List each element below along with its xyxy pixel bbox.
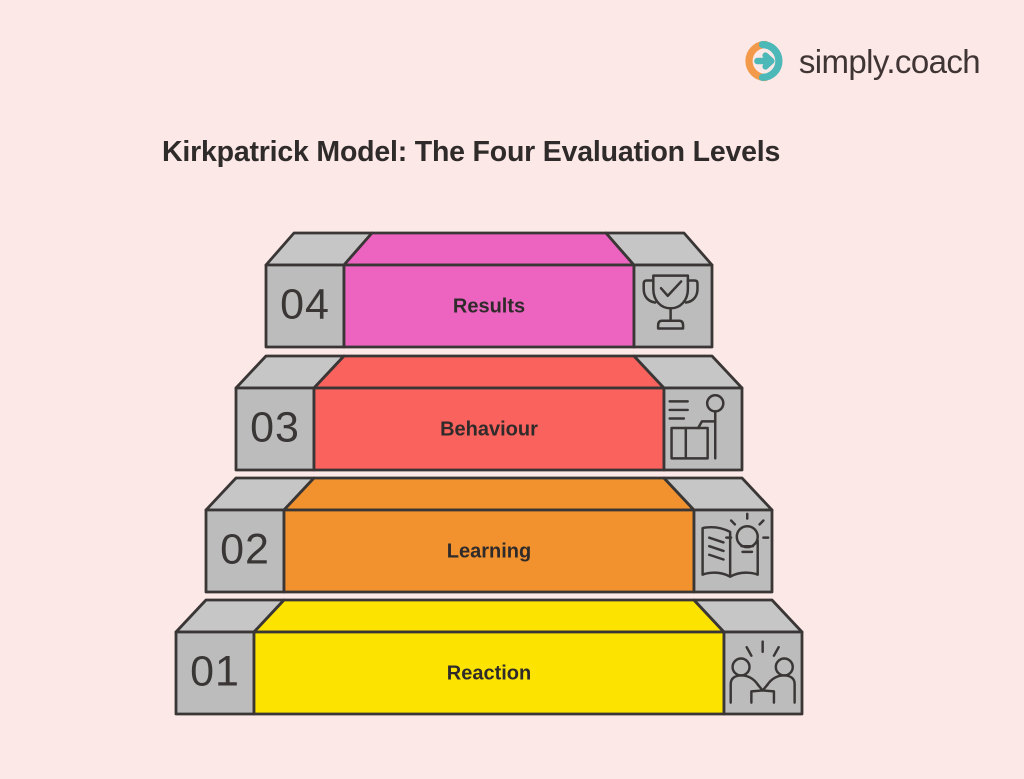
step-01-label: Reaction bbox=[447, 662, 531, 684]
step-03[interactable] bbox=[236, 356, 742, 470]
step-02-label: Learning bbox=[447, 540, 531, 562]
staircase-svg: 04 03 02 01 Results Behaviour Learning R… bbox=[0, 0, 1024, 779]
step-02-color-top-face bbox=[284, 478, 694, 510]
step-04-right-front-face bbox=[634, 265, 712, 347]
step-04-number: 04 bbox=[280, 280, 330, 328]
step-01[interactable] bbox=[176, 600, 802, 714]
step-04-color-top-face bbox=[344, 233, 634, 265]
step-03-number: 03 bbox=[250, 403, 300, 451]
step-04-label: Results bbox=[453, 295, 525, 317]
step-02-number: 02 bbox=[220, 525, 270, 573]
step-01-number: 01 bbox=[190, 647, 240, 695]
kirkpatrick-staircase-diagram: 04 03 02 01 Results Behaviour Learning R… bbox=[0, 0, 1024, 779]
step-04[interactable] bbox=[266, 233, 712, 347]
step-03-color-top-face bbox=[314, 356, 664, 388]
infographic-canvas: simply.coach Kirkpatrick Model: The Four… bbox=[0, 0, 1024, 779]
step-01-color-top-face bbox=[254, 600, 724, 632]
step-03-label: Behaviour bbox=[440, 418, 538, 440]
step-02[interactable] bbox=[206, 478, 772, 592]
